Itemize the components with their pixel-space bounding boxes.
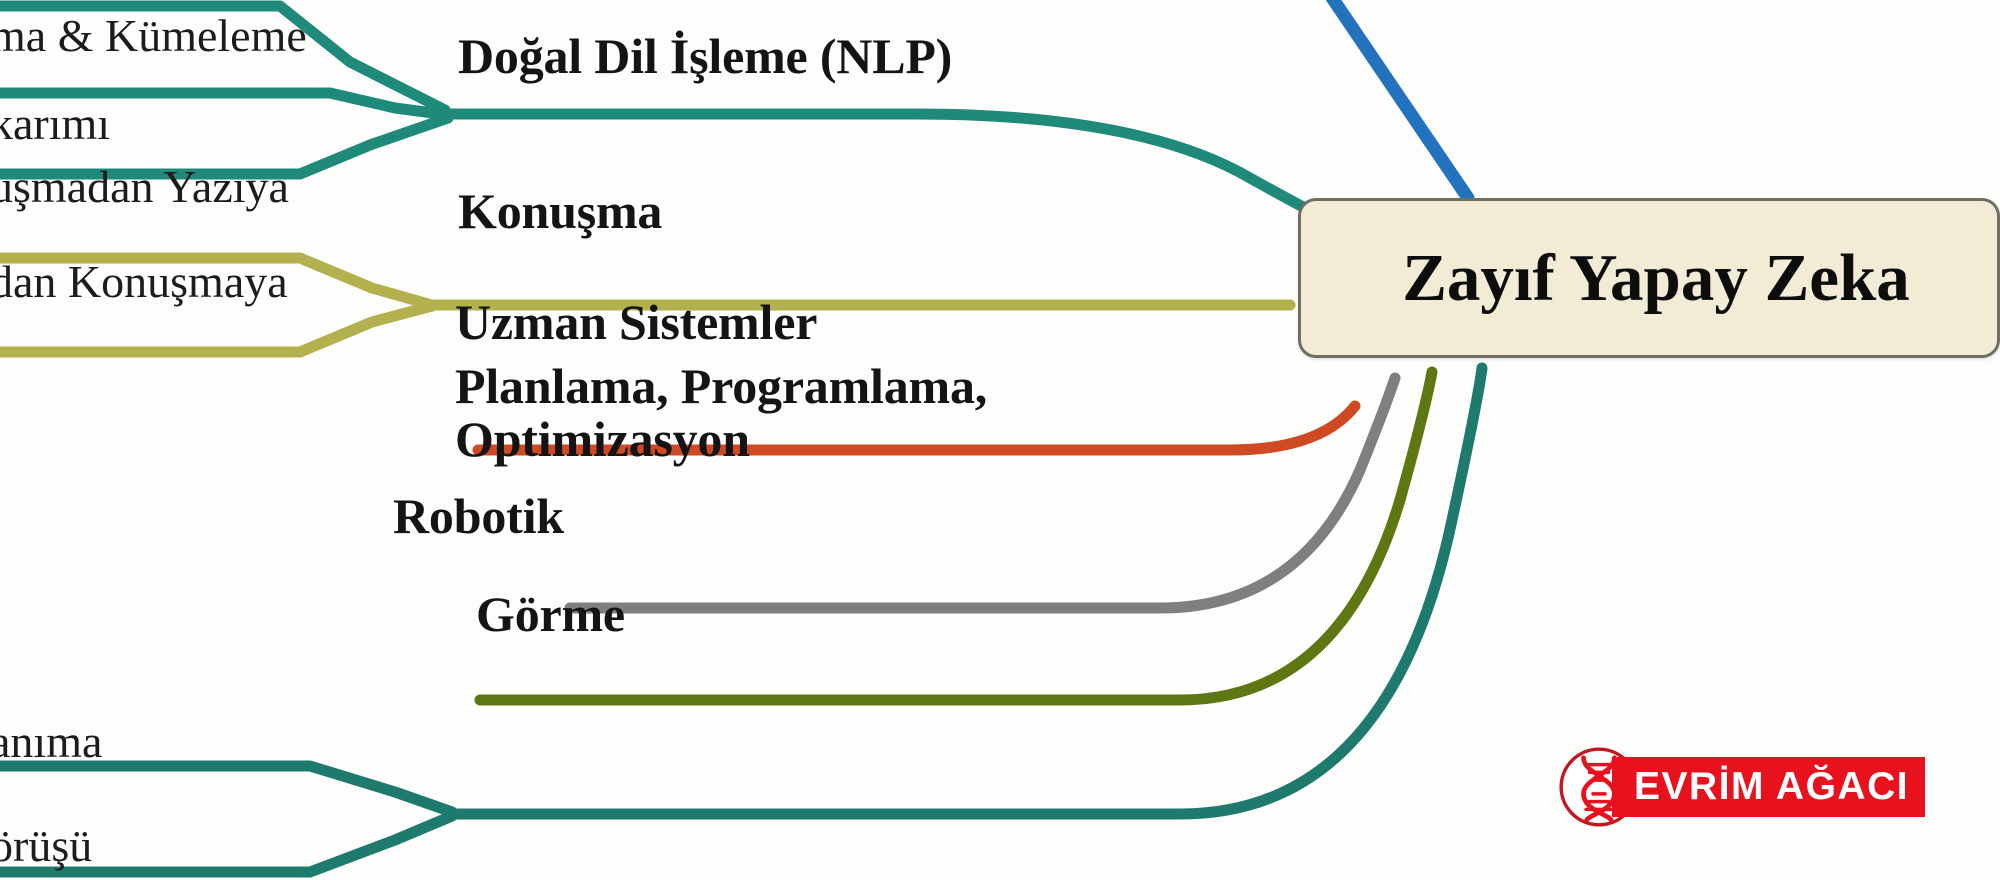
connector-konusma-child-2 bbox=[0, 306, 432, 352]
sub-label-nlp-child-2: karımı bbox=[0, 100, 110, 148]
node-label-uzman-sistemler: Uzman Sistemler bbox=[455, 296, 817, 349]
connector-gorme-child-1 bbox=[0, 766, 452, 812]
logo-wordmark: EVRİM AĞACI bbox=[1612, 757, 1925, 817]
evrim-agaci-logo[interactable]: EVRİM AĞACI bbox=[1556, 744, 1925, 830]
root-node-label: Zayıf Yapay Zeka bbox=[1388, 240, 1910, 317]
sub-label-konusma-child-1: uşmadan Yazıya bbox=[0, 163, 289, 211]
sub-label-gorme-child-2: örüşü bbox=[0, 822, 92, 870]
sub-label-nlp-child-1: ma & Kümeleme bbox=[0, 12, 307, 60]
connector-blue-incoming bbox=[1320, 0, 1468, 198]
node-label-robotik: Robotik bbox=[393, 490, 564, 543]
root-node-zayif-yapay-zeka[interactable]: Zayıf Yapay Zeka bbox=[1298, 198, 2000, 358]
connector-group-blue-incoming bbox=[1320, 0, 1468, 198]
node-label-gorme: Görme bbox=[476, 588, 625, 641]
node-label-konusma: Konuşma bbox=[458, 185, 662, 238]
sub-label-gorme-child-1: anıma bbox=[0, 718, 102, 766]
node-label-nlp: Doğal Dil İşleme (NLP) bbox=[458, 30, 952, 83]
node-label-planlama-line-2: Optimizasyon bbox=[455, 413, 750, 466]
node-label-planlama-line-1: Planlama, Programlama, bbox=[455, 360, 987, 413]
sub-label-konusma-child-2: dan Konuşmaya bbox=[0, 258, 288, 306]
mindmap-canvas: ma & Kümeleme karımı Doğal Dil İşleme (N… bbox=[0, 0, 2000, 880]
